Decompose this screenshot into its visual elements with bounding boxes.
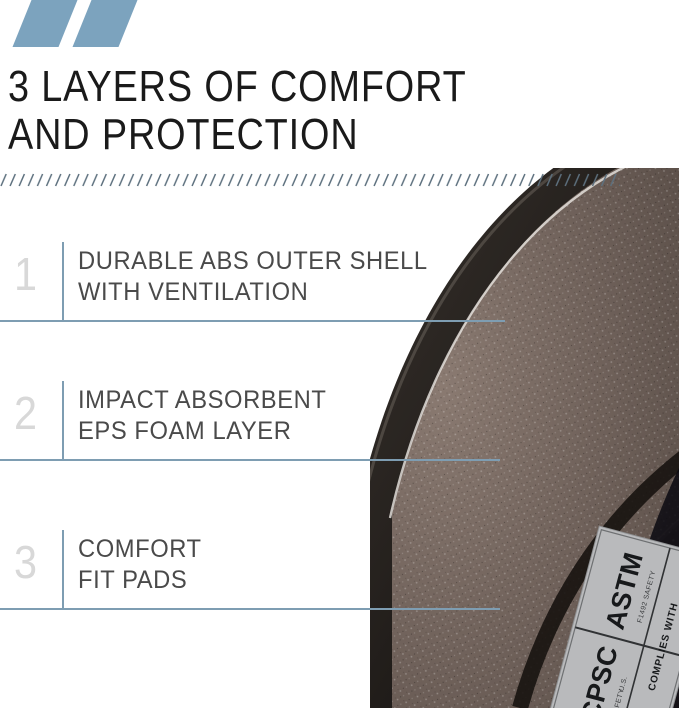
- feature-vertical-rule-1: [62, 242, 64, 320]
- feature-text-2-line-2: EPS FOAM LAYER: [78, 416, 326, 447]
- feature-text-2-line-1: IMPACT ABSORBENT: [78, 385, 326, 416]
- feature-vertical-rule-3: [62, 530, 64, 608]
- feature-text-3-line-1: COMFORT: [78, 534, 202, 565]
- feature-text-3-line-2: FIT PADS: [78, 565, 202, 596]
- feature-number-3: 3: [14, 536, 50, 588]
- hatch-divider-graphic: [0, 172, 620, 188]
- feature-underline-2: [0, 459, 500, 461]
- feature-text-1-line-1: DURABLE ABS OUTER SHELL: [78, 246, 428, 277]
- certification-label: ASTM F1492 SAFETY CPSC U.S. SAFETY COMPL…: [566, 534, 679, 708]
- feature-text-1: DURABLE ABS OUTER SHELL WITH VENTILATION: [78, 246, 428, 308]
- hatch-divider: [0, 172, 620, 188]
- feature-vertical-rule-2: [62, 381, 64, 459]
- quote-bar-right: [73, 0, 138, 47]
- page-title-line-2: AND PROTECTION: [8, 111, 558, 159]
- page-title: 3 LAYERS OF COMFORT AND PROTECTION: [8, 63, 558, 159]
- cert-label-graphic: ASTM F1492 SAFETY CPSC U.S. SAFETY COMPL…: [566, 534, 679, 708]
- feature-underline-1: [0, 320, 505, 322]
- feature-text-2: IMPACT ABSORBENT EPS FOAM LAYER: [78, 385, 326, 447]
- page-title-line-1: 3 LAYERS OF COMFORT: [8, 63, 558, 111]
- feature-underline-3: [0, 608, 500, 610]
- feature-text-3: COMFORT FIT PADS: [78, 534, 202, 596]
- feature-text-1-line-2: WITH VENTILATION: [78, 277, 428, 308]
- feature-number-2: 2: [14, 387, 50, 439]
- infographic-page: ASTM F1492 SAFETY CPSC U.S. SAFETY COMPL…: [0, 0, 679, 708]
- feature-number-1: 1: [14, 248, 50, 300]
- quote-bar-left: [13, 0, 78, 47]
- quote-mark-decoration: [0, 0, 170, 50]
